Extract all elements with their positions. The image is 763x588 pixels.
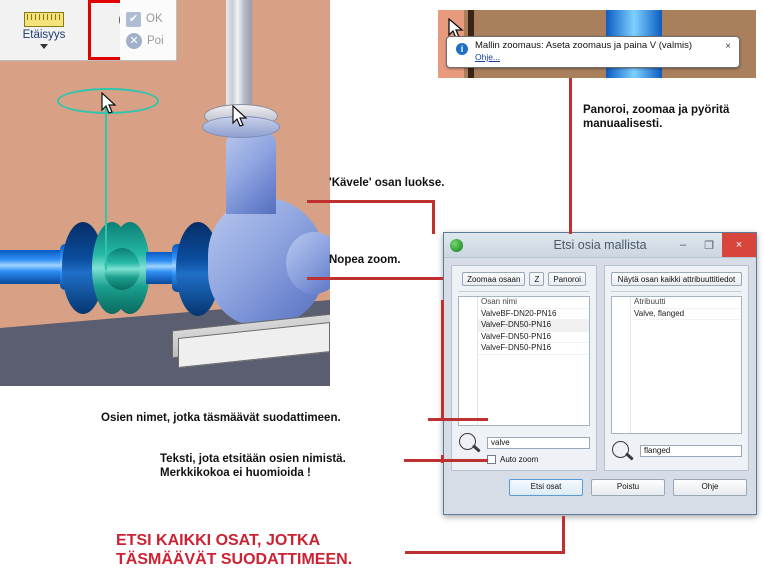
model-zoom-tooltip[interactable]: i Mallin zoomaus: Aseta zoomaus ja paina… (446, 36, 740, 68)
list-item[interactable]: ValveBF-DN20-PN16 (478, 309, 589, 321)
attribute-search-input[interactable] (640, 445, 742, 457)
zoom-to-part-button[interactable]: Zoomaa osaan (462, 272, 525, 286)
dialog-footer: Etsi osat Poistu Ohje (451, 479, 749, 496)
info-icon: i (456, 43, 468, 55)
close-button[interactable]: × (722, 233, 756, 257)
toolbar-item-distance-label: Etäisyys (23, 29, 66, 41)
valve-teal-hub (104, 248, 140, 290)
mini-screenshot-panel: i Mallin zoomaus: Aseta zoomaus ja paina… (438, 10, 756, 78)
window-controls: – ❐ × (670, 233, 756, 257)
maximize-button[interactable]: ❐ (696, 233, 722, 257)
callout-line-walk-to-part (307, 200, 435, 203)
callout-line-search-text-hint-up (441, 455, 444, 463)
annotation-quick-zoom: Nopea zoom. (329, 253, 509, 267)
mouse-cursor-secondary (232, 105, 250, 129)
callout-line-matching-part-names-up (441, 300, 444, 420)
z-button[interactable]: Z (529, 272, 544, 286)
find-parts-button[interactable]: Etsi osat (509, 479, 583, 496)
find-parts-dialog[interactable]: Etsi osia mallista – ❐ × Zoomaa osaan Z … (443, 232, 757, 515)
mouse-cursor-primary (101, 92, 119, 116)
callout-line-walk-to-part-drop (432, 200, 435, 234)
list-gutter-left (459, 297, 478, 425)
list-item[interactable]: ValveF-DN50-PN16 (478, 320, 589, 332)
attributes-pane: Näytä osan kaikki attribuuttitiedot Atri… (604, 265, 749, 471)
list-gutter-right (612, 297, 631, 433)
ok-button-label: OK (146, 13, 163, 25)
cancel-button[interactable]: ✕ Poi (126, 33, 176, 49)
magnifier-icon (458, 432, 482, 456)
pan-button[interactable]: Panoroi (548, 272, 586, 286)
show-all-attributes-button[interactable]: Näytä osan kaikki attribuuttitiedot (611, 272, 742, 286)
pump-neck (226, 130, 276, 214)
attributes-list[interactable]: Atribuutti Valve, flanged (611, 296, 742, 434)
attributes-pane-divider (611, 291, 742, 292)
ok-button[interactable]: ✔ OK (126, 12, 176, 27)
chevron-down-icon[interactable] (40, 44, 48, 49)
parts-pane: Zoomaa osaan Z Panoroi Osan nimi ValveBF… (451, 265, 597, 471)
callout-line-pan-zoom-rotate (569, 78, 572, 234)
toolbar-confirm-panel: ✔ OK ✕ Poi (120, 0, 176, 60)
callout-line-find-all-parts (405, 551, 565, 554)
auto-zoom-checkbox[interactable] (487, 455, 496, 464)
callout-line-search-text-hint (404, 459, 488, 462)
minimize-button[interactable]: – (670, 233, 696, 257)
attribute-search-row (611, 440, 742, 464)
callout-line-find-all-parts-up (562, 516, 565, 553)
part-names-header: Osan nimi (478, 297, 589, 309)
annotation-matching-part-names: Osien nimet, jotka täsmäävät suodattimee… (101, 411, 431, 425)
list-item[interactable]: ValveF-DN50-PN16 (478, 332, 589, 344)
attributes-rows: Atribuutti Valve, flanged (631, 297, 741, 433)
tooltip-help-link[interactable]: Ohje... (475, 52, 500, 62)
annotation-find-all-parts: ETSI KAIKKI OSAT, JOTKA TÄSMÄÄVÄT SUODAT… (116, 531, 476, 569)
part-search-input[interactable] (487, 437, 590, 449)
tooltip-message: Mallin zoomaus: Aseta zoomaus ja paina V… (475, 40, 692, 51)
magnifier-icon (611, 440, 635, 464)
part-names-list[interactable]: Osan nimi ValveBF-DN20-PN16 ValveF-DN50-… (458, 296, 590, 426)
list-item[interactable]: ValveF-DN50-PN16 (478, 343, 589, 355)
parts-pane-divider (458, 291, 590, 292)
close-icon[interactable]: × (725, 41, 731, 52)
check-icon: ✔ (126, 12, 141, 27)
dialog-panes: Zoomaa osaan Z Panoroi Osan nimi ValveBF… (451, 265, 749, 471)
annotation-search-text-hint: Teksti, jota etsitään osien nimistä. Mer… (160, 452, 435, 480)
auto-zoom-checkbox-row[interactable]: Auto zoom (487, 455, 590, 464)
part-names-rows: Osan nimi ValveBF-DN20-PN16 ValveF-DN50-… (478, 297, 589, 425)
exit-button[interactable]: Poistu (591, 479, 665, 496)
attributes-pane-buttons: Näytä osan kaikki attribuuttitiedot (611, 272, 742, 286)
help-button[interactable]: Ohje (673, 479, 747, 496)
attributes-header: Atribuutti (631, 297, 741, 309)
auto-zoom-label: Auto zoom (500, 455, 538, 464)
toolbar-item-distance[interactable]: Etäisyys (0, 0, 88, 60)
rotate-axis-line (105, 98, 107, 270)
dialog-body: Zoomaa osaan Z Panoroi Osan nimi ValveBF… (444, 258, 756, 517)
list-item[interactable]: Valve, flanged (631, 309, 741, 321)
ruler-icon (24, 12, 64, 27)
callout-line-matching-part-names (428, 418, 488, 421)
parts-pane-buttons: Zoomaa osaan Z Panoroi (458, 272, 590, 286)
cancel-icon: ✕ (126, 33, 142, 49)
annotation-walk-to-part: 'Kävele' osan luokse. (329, 176, 509, 190)
cancel-button-label: Poi (147, 35, 164, 47)
annotation-pan-zoom-rotate: Panoroi, zoomaa ja pyöritä manuaalisesti… (583, 103, 763, 131)
callout-line-quick-zoom (307, 277, 443, 280)
